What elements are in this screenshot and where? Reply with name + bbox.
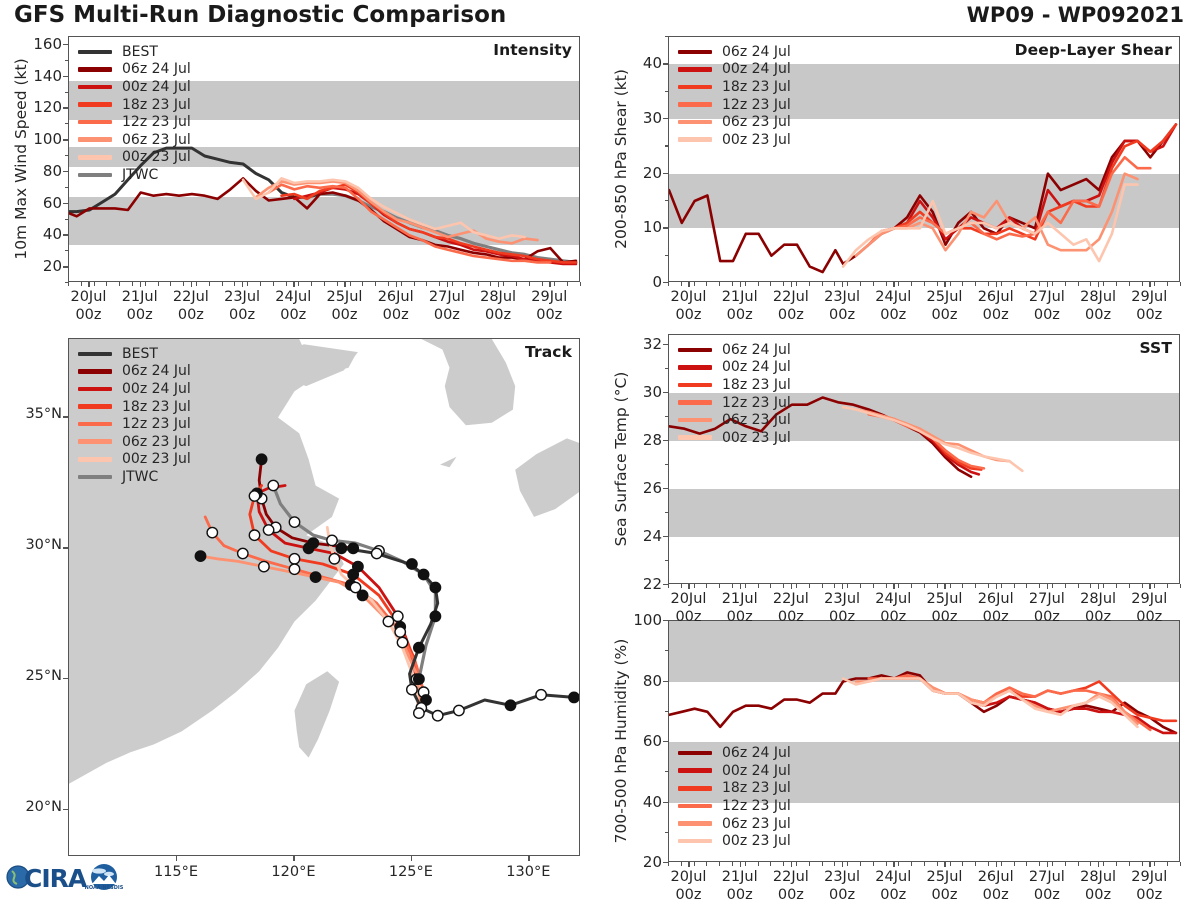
xtick-mark [996, 584, 997, 589]
xtick-mark [344, 282, 345, 287]
xtick-minor [898, 584, 899, 588]
xtick-day: 24Jul [275, 289, 311, 305]
xtick-mark [1098, 862, 1099, 867]
legend-swatch-run_18z23 [678, 383, 712, 388]
xtick-minor [1180, 282, 1181, 286]
xtick-minor [924, 282, 925, 286]
xtick-hour: 00z [536, 307, 562, 323]
xtick-minor [401, 282, 402, 286]
lon-tick-mark [528, 856, 529, 861]
xtick-hour: 00z [778, 307, 804, 323]
track-marker-open [289, 564, 299, 574]
track-marker-filled [407, 559, 417, 569]
xtick-minor [286, 282, 287, 286]
xtick-hour: 00z [331, 307, 357, 323]
ytick-minor [65, 187, 69, 188]
xtick-minor [834, 282, 835, 286]
xtick-minor [490, 282, 491, 286]
xtick-minor [681, 862, 682, 866]
xtick-hour: 00z [229, 307, 255, 323]
ytick-minor [65, 266, 69, 267]
xtick-minor [860, 282, 861, 286]
ytick-minor [665, 392, 669, 393]
legend-label: 00z 23 Jul [722, 430, 791, 446]
ytick-minor [65, 107, 69, 108]
xtick-minor [1078, 862, 1079, 866]
track-marker-filled [569, 692, 579, 702]
xtick-minor [1014, 584, 1015, 588]
ytick-minor [665, 200, 669, 201]
intensity-ytick: 160 [22, 35, 62, 53]
legend-item-best[interactable]: BEST [78, 345, 191, 363]
xtick-day: 29Jul [1131, 869, 1167, 885]
legend-item-run_12z23[interactable]: 12z 23 Jul [678, 96, 791, 114]
track-marker-filled [348, 543, 358, 553]
cira-logo: CIRA NOAA/NESDIS [4, 856, 124, 898]
track-legend: BEST06z 24 Jul00z 24 Jul18z 23 Jul12z 23… [78, 345, 191, 486]
legend-swatch-run_18z23 [678, 85, 712, 90]
xtick-minor [950, 282, 951, 286]
xtick-minor [247, 282, 248, 286]
xtick-mark [140, 282, 141, 287]
ytick-minor [65, 76, 69, 77]
shear-xtick: 29Jul00z [1115, 288, 1183, 324]
xtick-mark [1098, 282, 1099, 287]
legend-label: 12z 23 Jul [722, 395, 791, 411]
xtick-minor [1180, 862, 1181, 866]
rh-ytick: 60 [622, 732, 662, 750]
xtick-minor [886, 282, 887, 286]
xtick-minor [362, 282, 363, 286]
xtick-mark [498, 282, 499, 287]
xtick-minor [1090, 584, 1091, 588]
xtick-minor [809, 862, 810, 866]
legend-item-run_00z23[interactable]: 00z 23 Jul [678, 131, 791, 149]
xtick-minor [1154, 282, 1155, 286]
xtick-minor [770, 862, 771, 866]
xtick-hour: 00z [75, 307, 101, 323]
legend-label: 00z 24 Jul [122, 381, 191, 397]
xtick-mark [396, 282, 397, 287]
legend-swatch-run_00z24 [678, 67, 712, 72]
xtick-day: 28Jul [1080, 289, 1116, 305]
xtick-minor [706, 862, 707, 866]
ytick-minor [665, 771, 669, 772]
xtick-minor [1103, 862, 1104, 866]
legend-label: 06z 23 Jul [722, 412, 791, 428]
xtick-hour: 00z [1085, 609, 1111, 625]
intensity-ytick: 140 [22, 67, 62, 85]
track-marker-open [259, 561, 269, 571]
xtick-minor [873, 282, 874, 286]
xtick-minor [1078, 584, 1079, 588]
xtick-minor [873, 862, 874, 866]
intensity-ytick: 20 [22, 257, 62, 275]
legend-swatch-run_06z23 [78, 439, 112, 444]
xtick-hour: 00z [983, 887, 1009, 903]
xtick-day: 21Jul [722, 869, 758, 885]
legend-item-run_06z24[interactable]: 06z 24 Jul [678, 744, 791, 762]
xtick-hour: 00z [675, 307, 701, 323]
xtick-minor [1039, 584, 1040, 588]
legend-label: 00z 24 Jul [722, 763, 791, 779]
xtick-minor [719, 862, 720, 866]
ytick-minor [65, 219, 69, 220]
legend-label: 00z 24 Jul [122, 79, 191, 95]
xtick-minor [668, 862, 669, 866]
xtick-hour: 00z [931, 307, 957, 323]
xtick-hour: 00z [727, 307, 753, 323]
xtick-minor [898, 282, 899, 286]
track-marker-filled [414, 674, 424, 684]
ytick-minor [665, 91, 669, 92]
svg-text:CIRA: CIRA [24, 864, 88, 893]
legend-swatch-run_06z23 [678, 821, 712, 826]
legend-item-run_00z24[interactable]: 00z 24 Jul [678, 359, 791, 377]
xtick-hour: 00z [931, 609, 957, 625]
track-marker-filled [336, 543, 346, 553]
track-lon-tick: 125°E [375, 864, 447, 880]
xtick-hour: 00z [931, 887, 957, 903]
xtick-minor [898, 862, 899, 866]
legend-swatch-run_12z23 [678, 102, 712, 107]
xtick-minor [681, 282, 682, 286]
xtick-hour: 00z [383, 307, 409, 323]
ytick-minor [65, 171, 69, 172]
xtick-minor [783, 584, 784, 588]
legend-swatch-run_12z23 [678, 804, 712, 809]
xtick-minor [937, 282, 938, 286]
legend-item-run_06z23[interactable]: 06z 23 Jul [678, 411, 791, 429]
sst-ytick: 32 [622, 335, 662, 353]
xtick-minor [732, 584, 733, 588]
ytick-minor [665, 368, 669, 369]
xtick-minor [1142, 282, 1143, 286]
xtick-minor [834, 584, 835, 588]
xtick-day: 28Jul [1080, 591, 1116, 607]
track-lat-tick: 20°N [10, 799, 62, 815]
track-marker-filled [256, 454, 266, 464]
legend-swatch-run_00z23 [678, 137, 712, 142]
legend-label: 06z 24 Jul [122, 61, 191, 77]
sst-ytick: 30 [622, 383, 662, 401]
xtick-mark [740, 584, 741, 589]
xtick-minor [260, 282, 261, 286]
xtick-mark [842, 282, 843, 287]
xtick-minor [1026, 862, 1027, 866]
legend-swatch-run_00z24 [678, 768, 712, 773]
landmass-taiwan [295, 671, 340, 757]
legend-item-run_06z24[interactable]: 06z 24 Jul [78, 61, 191, 79]
xtick-minor [1039, 282, 1040, 286]
legend-swatch-jtwc [78, 173, 112, 178]
xtick-mark [1149, 862, 1150, 867]
xtick-minor [694, 862, 695, 866]
legend-swatch-run_06z23 [78, 137, 112, 142]
legend-label: 12z 23 Jul [122, 416, 191, 432]
legend-label: 00z 24 Jul [722, 61, 791, 77]
shear-ytick: 30 [622, 109, 662, 127]
legend-label: 06z 23 Jul [722, 816, 791, 832]
ytick-minor [665, 802, 669, 803]
xtick-minor [1129, 282, 1130, 286]
legend-label: JTWC [122, 167, 158, 183]
ytick-minor [665, 255, 669, 256]
xtick-mark [191, 282, 192, 287]
legend-item-run_00z23[interactable]: 00z 23 Jul [78, 149, 191, 167]
legend-item-run_18z23[interactable]: 18z 23 Jul [678, 376, 791, 394]
xtick-minor [988, 862, 989, 866]
xtick-minor [847, 282, 848, 286]
track-marker-open [289, 554, 299, 564]
xtick-mark [1047, 282, 1048, 287]
ytick-minor [665, 145, 669, 146]
xtick-day: 26Jul [978, 591, 1014, 607]
xtick-minor [668, 282, 669, 286]
rh-xtick: 29Jul00z [1115, 868, 1183, 904]
legend-label: 06z 23 Jul [122, 434, 191, 450]
xtick-hour: 00z [983, 609, 1009, 625]
xtick-minor [1065, 584, 1066, 588]
xtick-hour: 00z [1136, 887, 1162, 903]
xtick-minor [503, 282, 504, 286]
lon-tick-mark [411, 856, 412, 861]
legend-swatch-run_06z24 [678, 348, 712, 353]
xtick-day: 29Jul [531, 289, 567, 305]
ytick-minor [665, 464, 669, 465]
xtick-minor [1001, 584, 1002, 588]
ytick-minor [665, 227, 669, 228]
legend-item-run_18z23[interactable]: 18z 23 Jul [678, 78, 791, 96]
legend-item-run_12z23[interactable]: 12z 23 Jul [78, 415, 191, 433]
xtick-minor [1065, 282, 1066, 286]
ytick-minor [665, 741, 669, 742]
xtick-minor [745, 862, 746, 866]
legend-item-run_18z23[interactable]: 18z 23 Jul [78, 398, 191, 416]
legend-item-run_06z23[interactable]: 06z 23 Jul [78, 433, 191, 451]
legend-item-run_18z23[interactable]: 18z 23 Jul [678, 780, 791, 798]
xtick-minor [745, 584, 746, 588]
legend-item-run_06z24[interactable]: 06z 24 Jul [78, 363, 191, 381]
lat-tick-mark [63, 416, 68, 417]
track-marker-filled [310, 572, 320, 582]
track-lon-tick: 115°E [140, 864, 212, 880]
intensity-ytick: 100 [22, 130, 62, 148]
track-marker-filled [414, 643, 424, 653]
xtick-minor [119, 282, 120, 286]
legend-swatch-run_06z24 [78, 369, 112, 374]
lat-tick-mark [63, 547, 68, 548]
track-lat-tick: 25°N [10, 668, 62, 684]
xtick-day: 27Jul [1029, 869, 1065, 885]
xtick-mark [944, 282, 945, 287]
storm-title: WP09 - WP092021 [967, 3, 1184, 27]
xtick-minor [426, 282, 427, 286]
xtick-minor [1180, 584, 1181, 588]
rh-ytick: 100 [622, 611, 662, 629]
xtick-mark [791, 282, 792, 287]
legend-label: 06z 23 Jul [122, 132, 191, 148]
xtick-hour: 00z [778, 609, 804, 625]
xtick-minor [911, 584, 912, 588]
xtick-minor [988, 584, 989, 588]
xtick-minor [1154, 584, 1155, 588]
xtick-minor [975, 282, 976, 286]
lon-tick-mark [176, 856, 177, 861]
legend-swatch-run_00z24 [678, 365, 712, 370]
legend-item-jtwc[interactable]: JTWC [78, 166, 191, 184]
xtick-minor [478, 282, 479, 286]
legend-swatch-run_12z23 [678, 400, 712, 405]
xtick-hour: 00z [1034, 887, 1060, 903]
xtick-minor [924, 862, 925, 866]
xtick-minor [1103, 282, 1104, 286]
xtick-day: 21Jul [122, 289, 158, 305]
intensity-xtick: 29Jul00z [515, 288, 583, 324]
xtick-minor [796, 862, 797, 866]
legend-item-run_00z24[interactable]: 00z 24 Jul [78, 380, 191, 398]
xtick-day: 23Jul [824, 869, 860, 885]
legend-label: 12z 23 Jul [722, 798, 791, 814]
xtick-mark [791, 862, 792, 867]
legend-item-run_06z24[interactable]: 06z 24 Jul [678, 43, 791, 61]
xtick-minor [158, 282, 159, 286]
legend-label: 12z 23 Jul [122, 114, 191, 130]
xtick-minor [1014, 282, 1015, 286]
xtick-minor [1142, 584, 1143, 588]
legend-item-run_12z23[interactable]: 12z 23 Jul [78, 113, 191, 131]
xtick-day: 26Jul [378, 289, 414, 305]
ytick-minor [665, 681, 669, 682]
xtick-minor [298, 282, 299, 286]
xtick-mark [1098, 584, 1099, 589]
xtick-day: 24Jul [875, 289, 911, 305]
legend-swatch-run_18z23 [78, 404, 112, 409]
xtick-hour: 00z [1034, 307, 1060, 323]
xtick-minor [911, 862, 912, 866]
xtick-minor [822, 584, 823, 588]
xtick-day: 23Jul [224, 289, 260, 305]
xtick-mark [1047, 862, 1048, 867]
sst-ytick: 28 [622, 431, 662, 449]
intensity-ytick: 40 [22, 225, 62, 243]
ytick-minor [665, 711, 669, 712]
shear-legend: 06z 24 Jul00z 24 Jul18z 23 Jul12z 23 Jul… [678, 43, 791, 149]
legend-label: 06z 24 Jul [722, 745, 791, 761]
legend-item-run_06z23[interactable]: 06z 23 Jul [678, 113, 791, 131]
xtick-minor [1129, 584, 1130, 588]
xtick-minor [452, 282, 453, 286]
legend-item-run_06z23[interactable]: 06z 23 Jul [678, 815, 791, 833]
legend-label: BEST [122, 346, 158, 362]
track-marker-open [207, 527, 217, 537]
xtick-minor [350, 282, 351, 286]
legend-item-run_00z23[interactable]: 00z 23 Jul [678, 832, 791, 850]
legend-item-run_00z23[interactable]: 00z 23 Jul [678, 429, 791, 447]
track-lon-tick: 130°E [492, 864, 564, 880]
legend-label: 00z 23 Jul [122, 451, 191, 467]
legend-item-run_18z23[interactable]: 18z 23 Jul [78, 96, 191, 114]
xtick-minor [183, 282, 184, 286]
legend-item-run_00z24[interactable]: 00z 24 Jul [78, 78, 191, 96]
xtick-day: 20Jul [670, 591, 706, 607]
legend-item-run_06z24[interactable]: 06z 24 Jul [678, 341, 791, 359]
xtick-minor [1065, 862, 1066, 866]
xtick-day: 21Jul [722, 289, 758, 305]
legend-item-run_12z23[interactable]: 12z 23 Jul [678, 797, 791, 815]
xtick-mark [242, 282, 243, 287]
xtick-mark [1149, 282, 1150, 287]
legend-swatch-run_00z24 [78, 85, 112, 90]
legend-swatch-run_06z23 [678, 120, 712, 125]
xtick-mark [996, 862, 997, 867]
xtick-minor [860, 862, 861, 866]
xtick-mark [688, 862, 689, 867]
landmass-kyushu [515, 438, 580, 517]
xtick-minor [988, 282, 989, 286]
ytick-minor [665, 63, 669, 64]
legend-item-run_00z24[interactable]: 00z 24 Jul [678, 762, 791, 780]
xtick-minor [145, 282, 146, 286]
xtick-day: 23Jul [824, 289, 860, 305]
track-marker-open [536, 690, 546, 700]
legend-item-run_12z23[interactable]: 12z 23 Jul [678, 394, 791, 412]
legend-item-jtwc[interactable]: JTWC [78, 468, 191, 486]
xtick-day: 22Jul [773, 289, 809, 305]
legend-item-run_06z23[interactable]: 06z 23 Jul [78, 131, 191, 149]
xtick-minor [911, 282, 912, 286]
sst-legend: 06z 24 Jul00z 24 Jul18z 23 Jul12z 23 Jul… [678, 341, 791, 447]
legend-item-run_00z24[interactable]: 00z 24 Jul [678, 61, 791, 79]
xtick-minor [1001, 862, 1002, 866]
xtick-minor [542, 282, 543, 286]
ytick-minor [665, 416, 669, 417]
ytick-minor [65, 92, 69, 93]
rh-legend: 06z 24 Jul00z 24 Jul18z 23 Jul12z 23 Jul… [678, 744, 791, 850]
xtick-day: 21Jul [722, 591, 758, 607]
landmass-korea [421, 339, 515, 425]
track-marker-open [329, 554, 339, 564]
xtick-minor [132, 282, 133, 286]
legend-swatch-run_18z23 [78, 102, 112, 107]
track-marker-filled [505, 700, 515, 710]
xtick-day: 26Jul [978, 289, 1014, 305]
track-marker-open [454, 705, 464, 715]
xtick-minor [758, 282, 759, 286]
track-marker-filled [303, 543, 313, 553]
lat-tick-mark [63, 809, 68, 810]
xtick-minor [924, 584, 925, 588]
xtick-hour: 00z [434, 307, 460, 323]
xtick-hour: 00z [127, 307, 153, 323]
xtick-minor [694, 584, 695, 588]
xtick-minor [950, 584, 951, 588]
xtick-minor [439, 282, 440, 286]
legend-label: 18z 23 Jul [722, 377, 791, 393]
xtick-day: 27Jul [1029, 591, 1065, 607]
ytick-minor [65, 139, 69, 140]
legend-item-best[interactable]: BEST [78, 43, 191, 61]
legend-item-run_00z23[interactable]: 00z 23 Jul [78, 451, 191, 469]
xtick-mark [1149, 584, 1150, 589]
xtick-minor [375, 282, 376, 286]
track-marker-open [289, 517, 299, 527]
xtick-minor [1026, 584, 1027, 588]
track-marker-open [327, 535, 337, 545]
xtick-day: 25Jul [926, 289, 962, 305]
ytick-minor [665, 36, 669, 37]
xtick-mark [996, 282, 997, 287]
